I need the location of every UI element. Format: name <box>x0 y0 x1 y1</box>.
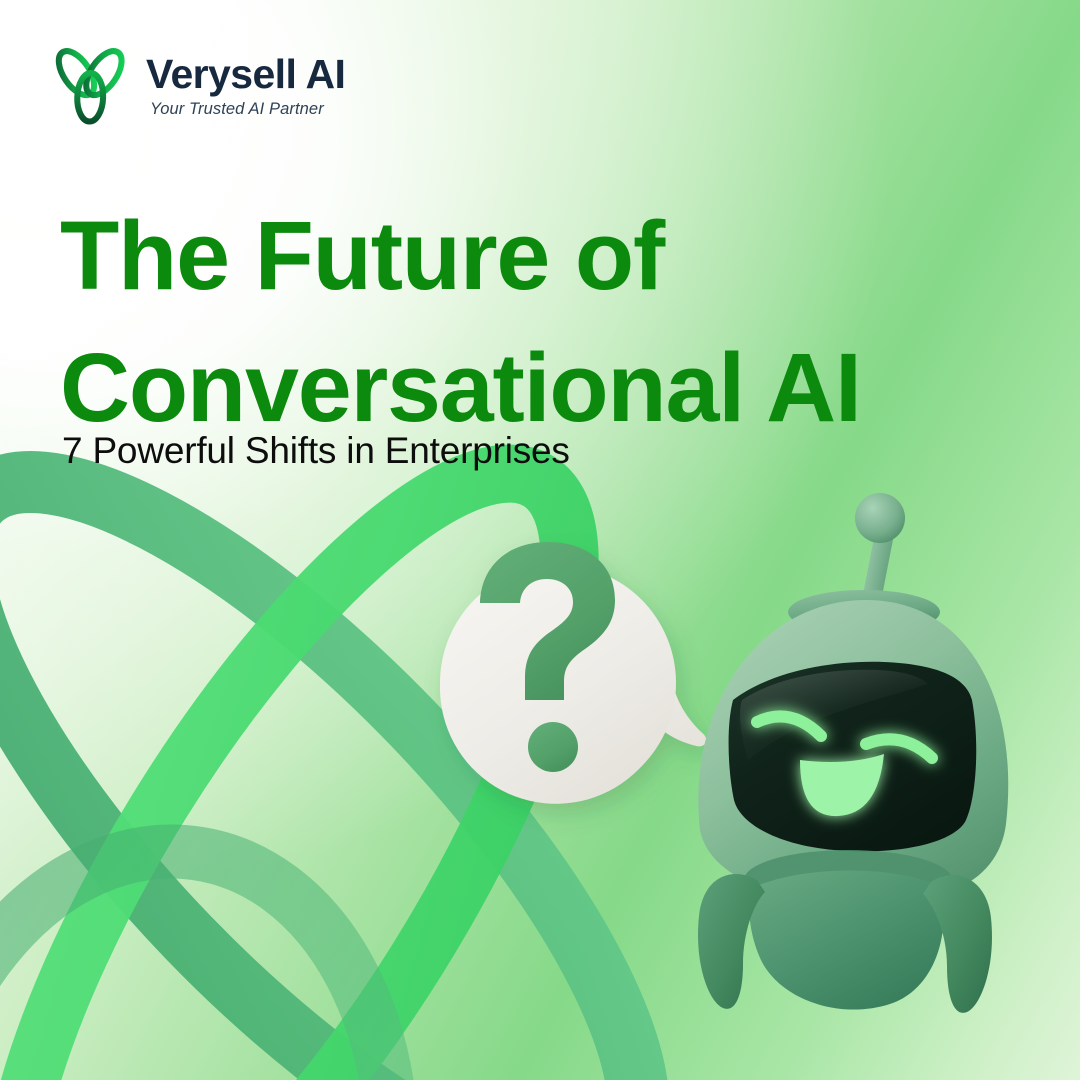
robot-torso <box>749 870 943 1009</box>
smiling-robot-mascot <box>698 493 1008 1013</box>
illustration-layer <box>0 0 1080 1080</box>
poster-canvas: Verysell AI Your Trusted AI Partner The … <box>0 0 1080 1080</box>
question-speech-bubble <box>440 542 706 804</box>
robot-face-screen <box>729 662 977 852</box>
antenna-ball <box>855 493 905 543</box>
